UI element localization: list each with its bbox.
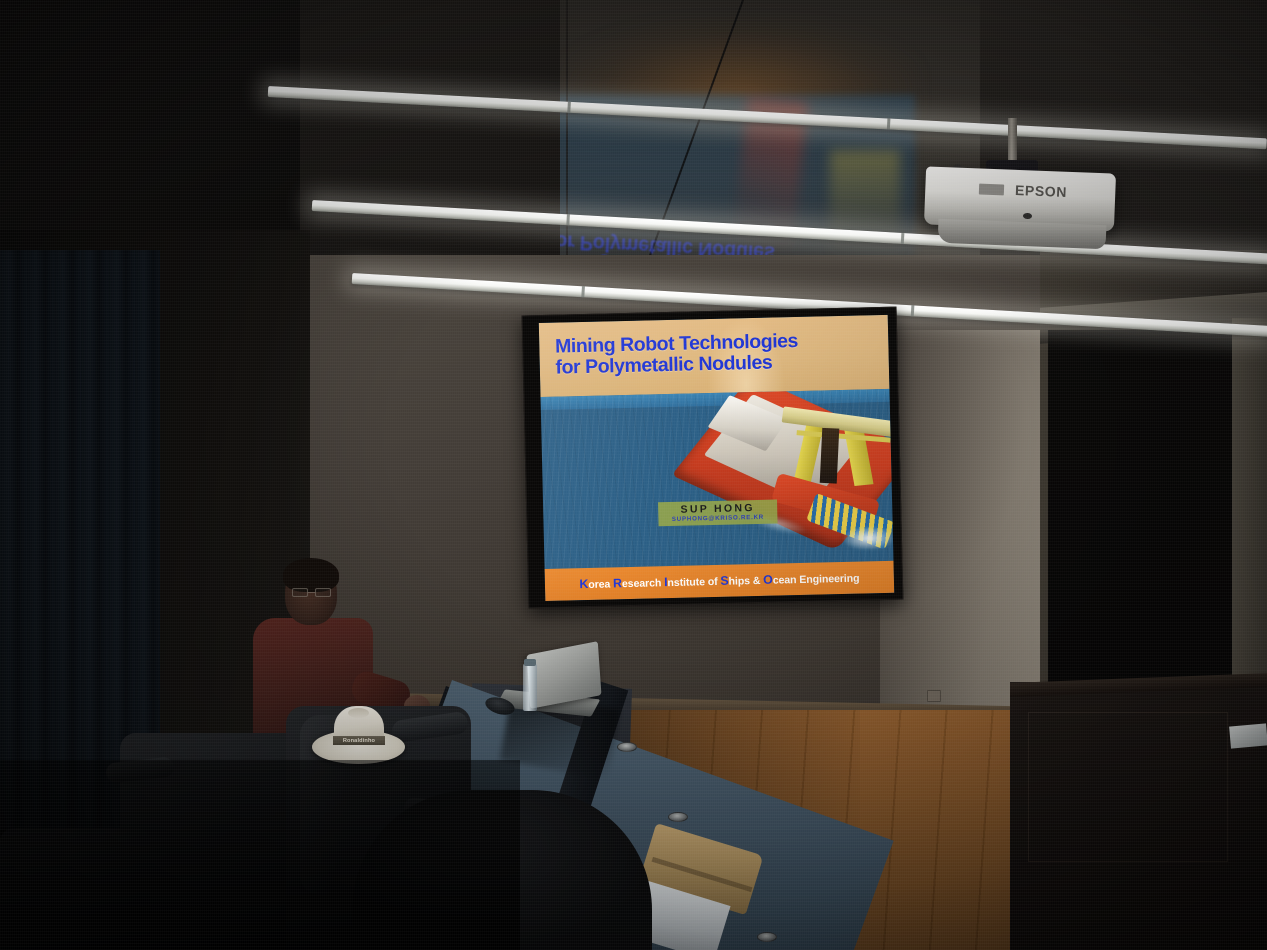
institute-word: cean Engineering [773, 573, 860, 587]
light-strip-joint [581, 286, 585, 297]
institute-initial: O [763, 573, 773, 587]
institute-word: orea [588, 578, 613, 591]
glass-reflection-yellow [830, 150, 900, 260]
panama-hat-band: Ronaldinho [333, 736, 385, 745]
institute-initial: R [613, 576, 622, 590]
hat-band-text: Ronaldinho [343, 738, 375, 744]
institute-name: Korea Research Institute of Ships & Ocea… [579, 571, 859, 592]
attendee-glasses-icon [292, 588, 332, 597]
podium-front-panel [1028, 712, 1228, 862]
projector-brand-label: EPSON [1015, 182, 1068, 200]
foreground-shadow [0, 760, 520, 950]
presenter-badge: SUP HONG SUPHONG@KRISO.RE.KR [658, 500, 777, 527]
light-strip-joint [567, 102, 571, 113]
light-strip-joint [911, 305, 915, 316]
projector-logo-plate [979, 184, 1004, 196]
sea-foam [844, 526, 893, 550]
presenter-email: SUPHONG@KRISO.RE.KR [672, 515, 764, 524]
institute-word: esearch [622, 577, 664, 590]
presentation-slide: Mining Robot Technologies for Polymetall… [539, 315, 894, 601]
light-strip-joint [566, 214, 570, 225]
attendee-hair [283, 558, 339, 592]
water-bottle[interactable] [523, 663, 537, 711]
cable-grommet-icon[interactable] [757, 932, 777, 942]
slide-title: Mining Robot Technologies for Polymetall… [555, 329, 877, 378]
cable-grommet-icon[interactable] [617, 742, 637, 752]
glasses-bridge [308, 592, 315, 593]
right-alcove [1048, 330, 1238, 730]
wall-outlet-icon [927, 690, 941, 702]
cable-grommet-icon[interactable] [668, 812, 688, 822]
riser-pipe [820, 427, 840, 483]
glasses-lens-left [292, 588, 308, 597]
podium-paper [1229, 723, 1267, 748]
institute-initial: S [720, 574, 728, 588]
panama-hat-crease [348, 708, 369, 718]
glasses-lens-right [315, 588, 331, 597]
slide-photo: SUP HONG SUPHONG@KRISO.RE.KR [541, 388, 894, 569]
light-strip-joint [901, 233, 905, 244]
bottle-cap[interactable] [524, 659, 536, 666]
light-strip-joint [887, 118, 891, 129]
ceiling-soffit [0, 0, 300, 250]
institute-word: hips & [728, 575, 763, 588]
conference-room-photo: Mining Robot Technologies for Polymetall… [0, 0, 1267, 950]
projection-screen: Mining Robot Technologies for Polymetall… [522, 307, 904, 609]
institute-word: nstitute of [667, 576, 720, 589]
screen-surface: Mining Robot Technologies for Polymetall… [539, 315, 894, 601]
